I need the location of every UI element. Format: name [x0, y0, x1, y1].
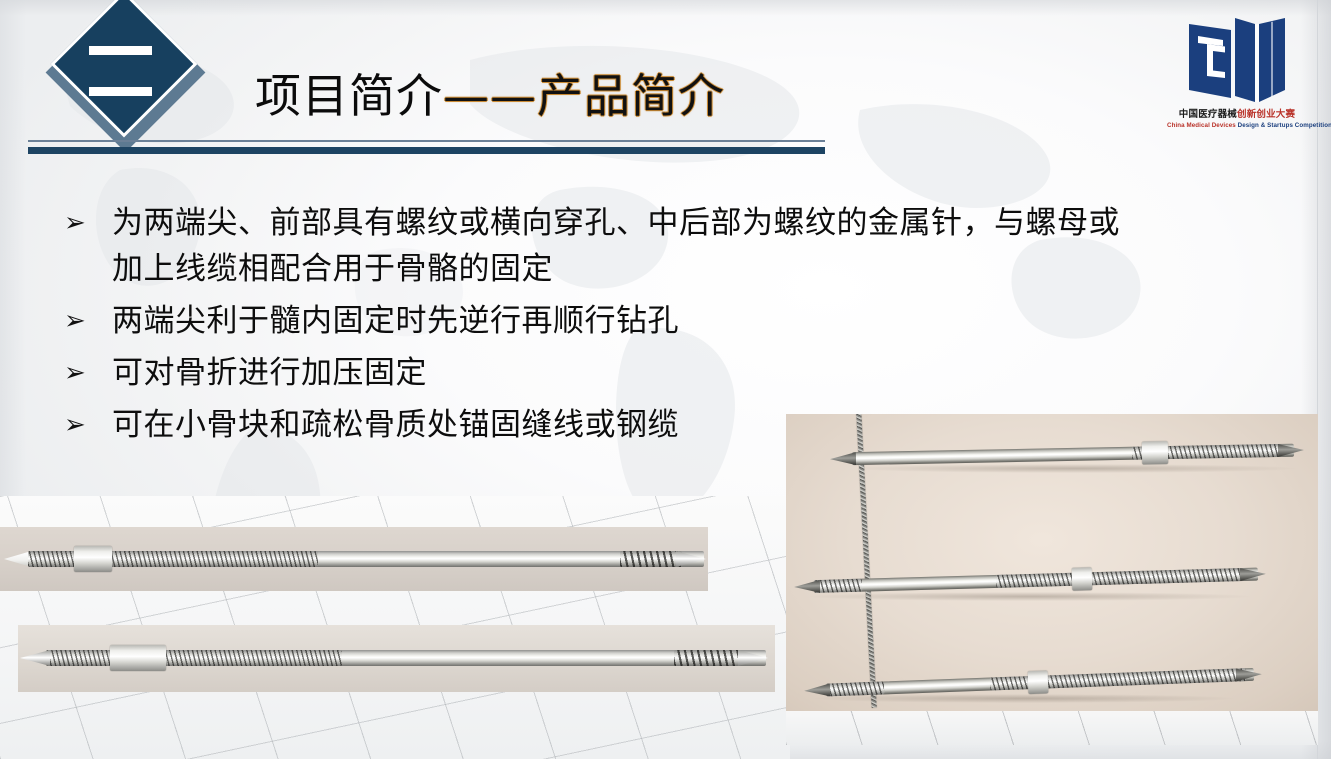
- list-item-line-2: 加上线缆相配合用于骨骼的固定: [112, 246, 1120, 292]
- photo-pin-threaded-with-nut: [0, 527, 708, 591]
- photo-pin-threaded-plain: [18, 625, 775, 692]
- contest-logo-name-cn-prefix: 中国医疗器械: [1179, 109, 1237, 120]
- list-item-line-1: 可对骨折进行加压固定: [112, 355, 427, 391]
- bullet-arrow-icon: ➢: [58, 402, 112, 448]
- contest-logo-name-cn: 中国医疗器械创新创业大赛: [1167, 110, 1307, 121]
- list-item: ➢ 为两端尖、前部具有螺纹或横向穿孔、中后部为螺纹的金属针，与螺母或 加上线缆相…: [58, 200, 1238, 292]
- title-rule-thick: [28, 147, 825, 154]
- list-item: ➢ 可对骨折进行加压固定: [58, 350, 1238, 396]
- contest-logo: 中国医疗器械创新创业大赛 China Medical Devices Desig…: [1167, 14, 1307, 162]
- contest-logo-name-en: China Medical Devices Design & Startups …: [1167, 123, 1307, 130]
- bullet-arrow-icon: ➢: [58, 200, 112, 246]
- list-item: ➢ 两端尖利于髓内固定时先逆行再顺行钻孔: [58, 298, 1238, 344]
- title-rule-thin: [28, 140, 825, 142]
- list-item-text: 两端尖利于髓内固定时先逆行再顺行钻孔: [112, 298, 679, 344]
- bullet-arrow-icon: ➢: [58, 350, 112, 396]
- contest-logo-name-en-rest: Design & Startups Competition: [1238, 122, 1331, 129]
- contest-logo-name-cn-accent: 创新创业大赛: [1237, 109, 1295, 120]
- list-item-text: 为两端尖、前部具有螺纹或横向穿孔、中后部为螺纹的金属针，与螺母或 加上线缆相配合…: [112, 200, 1120, 292]
- bullet-arrow-icon: ➢: [58, 298, 112, 344]
- list-item-text: 可在小骨块和疏松骨质处锚固缝线或钢缆: [112, 402, 679, 448]
- slide-header: 项目简介——产品简介 中国医疗器械创新创业大赛: [0, 0, 1331, 172]
- list-item-line-1: 为两端尖、前部具有螺纹或横向穿孔、中后部为螺纹的金属针，与螺母或: [112, 205, 1120, 241]
- open-book-door-logo-icon: [1185, 14, 1289, 106]
- photo-rods-with-cable: [786, 414, 1318, 745]
- list-item-line-1: 可在小骨块和疏松骨质处锚固缝线或钢缆: [112, 407, 679, 443]
- slide-canvas: 项目简介——产品简介 中国医疗器械创新创业大赛: [0, 0, 1331, 759]
- page-title: 项目简介——产品简介: [255, 60, 725, 126]
- diamond-equals-logo-icon: [41, 4, 211, 156]
- page-title-main: 项目简介: [255, 69, 443, 123]
- page-title-sub: ——产品简介: [443, 69, 725, 123]
- list-item-text: 可对骨折进行加压固定: [112, 350, 427, 396]
- list-item-line-1: 两端尖利于髓内固定时先逆行再顺行钻孔: [112, 303, 679, 339]
- contest-logo-name-en-accent: China Medical Devices: [1167, 122, 1236, 129]
